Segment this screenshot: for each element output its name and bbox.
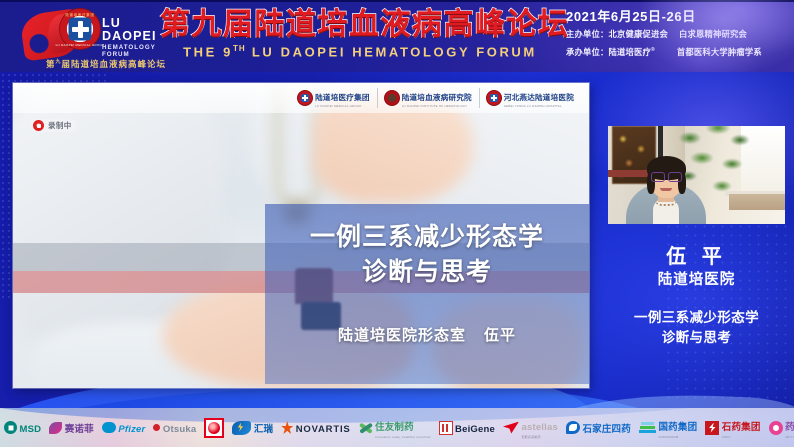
- broadcast-stage: 陆道培医疗集团 LU DAOPEI MEDICAL GROUP LU DAOPE…: [0, 0, 794, 447]
- logo-chinese-mark: 第九届陆道培血液病高峰论坛: [46, 58, 166, 70]
- sponsor-text: Pfizer: [118, 419, 145, 437]
- slide-logo-1-cn: 陆道培血液病研究院: [402, 93, 472, 102]
- beigene-icon: [439, 421, 453, 435]
- forum-logo: 陆道培医疗集团 LU DAOPEI MEDICAL GROUP LU DAOPE…: [22, 4, 150, 68]
- ldp-institute-portrait-icon: [385, 91, 399, 105]
- slide-logo-1-en: LU DAOPEI INSTITUTE OF HEMATOLOGY: [402, 105, 472, 108]
- sponsor-name: Otsuka: [163, 424, 196, 435]
- sponsor-bar: MSD赛诺菲PfizerOtsuka汇瑞NOVARTIS住友制药Innovati…: [0, 408, 794, 447]
- sponsor-logo: MSD: [0, 415, 45, 441]
- event-header-banner: 陆道培医疗集团 LU DAOPEI MEDICAL GROUP LU DAOPE…: [0, 0, 794, 72]
- slide-title-line-1: 一例三系减少形态学: [310, 220, 544, 255]
- sponsor-subtitle: 安斯泰来制药: [521, 435, 557, 439]
- sponsor-subtitle: SINOPHARM: [658, 435, 697, 439]
- co-organizer-2: 首都医科大学肿瘤学系: [677, 47, 762, 57]
- red-icon: [204, 418, 224, 438]
- presentation-slide[interactable]: 陆道培医疗集团 LU DAOPEI MEDICAL GROUP 陆道培血液病研究…: [13, 83, 589, 388]
- slide-logo-hospital: 河北燕达陆道培医院 HEBEI YANDA LU DAOPEI HOSPITAL: [479, 88, 581, 108]
- sponsor-subtitle: CSPC: [722, 435, 761, 439]
- jw-icon: [769, 421, 783, 435]
- sponsor-logo: BeiGene: [435, 415, 499, 441]
- event-title-chinese: 第九届陆道培血液病高峰论坛: [160, 8, 560, 42]
- event-info-block: 2021年6月25日-26日 主办单位：北京健康促进会白求恩精神研究会 承办单位…: [566, 9, 794, 59]
- event-organizers: 主办单位：北京健康促进会白求恩精神研究会: [566, 27, 794, 41]
- sponsor-logo: NOVARTIS: [277, 415, 354, 441]
- sponsor-text: astellas安斯泰来制药: [521, 417, 557, 439]
- sponsor-text: BeiGene: [455, 419, 495, 437]
- organizer-2: 白求恩精神研究会: [679, 29, 747, 39]
- sumitomo-icon: [359, 421, 373, 435]
- recording-label: 录制中: [48, 120, 72, 131]
- speaker-topic: 一例三系减少形态学 诊断与思考: [608, 308, 785, 348]
- event-title-english: THE 9TH LU DAOPEI HEMATOLOGY FORUM: [160, 44, 560, 59]
- slide-title: 一例三系减少形态学 诊断与思考: [310, 220, 544, 290]
- slide-title-line-2: 诊断与思考: [310, 255, 544, 290]
- cspc-icon: [705, 421, 719, 435]
- seal-bottom-text: LU DAOPEI MEDICAL GROUP: [56, 43, 105, 47]
- sponsor-name: 国药集团: [658, 422, 697, 433]
- slide-presenter-dept: 陆道培医院形态室: [338, 327, 466, 344]
- sinopharm-icon: [639, 421, 656, 435]
- slide-logo-0-en: LU DAOPEI MEDICAL GROUP: [315, 105, 370, 108]
- sanofi-icon: [49, 422, 62, 434]
- sponsor-logo: [200, 415, 228, 441]
- novartis-icon: [281, 421, 293, 434]
- slide-logo-2-en: HEBEI YANDA LU DAOPEI HOSPITAL: [504, 105, 574, 108]
- yanda-hospital-cross-icon: [487, 91, 501, 105]
- slide-presenter-line: 陆道培医院形态室伍平: [338, 324, 516, 345]
- sponsor-name: 住友制药: [375, 422, 414, 433]
- record-icon: [33, 120, 44, 131]
- speaker-figure: [626, 158, 706, 224]
- slide-logo-2-cn: 河北燕达陆道培医院: [504, 93, 574, 102]
- sponsor-logo: 石药集团CSPC: [701, 415, 764, 441]
- sponsor-logo: Otsuka: [149, 415, 200, 441]
- organizer-label: 主办单位：: [566, 29, 609, 39]
- sponsor-logo: 汇瑞: [228, 415, 277, 441]
- msd-icon: [4, 421, 17, 434]
- otsuka-icon: [153, 424, 160, 431]
- event-co-organizers: 承办单位：陆道培医疗®首都医科大学肿瘤学系: [566, 43, 794, 59]
- sponsor-logo: Pfizer: [98, 415, 150, 441]
- sponsor-logo: 国药集团SINOPHARM: [635, 415, 701, 441]
- seal-cross-horizontal: [72, 27, 89, 32]
- slide-logo-group: 陆道培医疗集团 LU DAOPEI MEDICAL GROUP: [291, 88, 377, 108]
- sponsor-text: 药明巨诺JW Therapeutics: [785, 417, 794, 439]
- event-title-en-ordinal: TH: [233, 44, 246, 53]
- event-title-en-rest: LU DAOPEI HEMATOLOGY FORUM: [246, 44, 537, 59]
- speaker-video-feed[interactable]: [608, 126, 785, 224]
- organizer-1: 北京健康促进会: [609, 29, 668, 39]
- sponsor-name: Pfizer: [118, 424, 145, 435]
- logo-english-name: LU DAOPEI: [102, 17, 157, 43]
- sjz-icon: [566, 421, 580, 434]
- recording-indicator: 录制中: [31, 119, 77, 132]
- sponsor-text: 住友制药Innovation today, healthier tomorrow: [375, 417, 431, 439]
- sponsor-logo-list: MSD赛诺菲PfizerOtsuka汇瑞NOVARTIS住友制药Innovati…: [0, 415, 794, 441]
- sponsor-text: MSD: [20, 419, 42, 437]
- logo-chinese-prefix: 第: [46, 59, 56, 69]
- header-top-rule: [0, 0, 794, 2]
- sponsor-logo: 石家庄四药: [562, 415, 635, 441]
- speaker-name: 伍 平: [608, 240, 785, 269]
- seal-cross-icon: [69, 18, 92, 41]
- co-organizer-label: 承办单位：: [566, 47, 609, 57]
- seal-top-text: 陆道培医疗集团: [65, 12, 94, 17]
- sponsor-subtitle: JW Therapeutics: [785, 435, 794, 439]
- event-date: 2021年6月25日-26日: [566, 9, 794, 25]
- sponsor-name: 石家庄四药: [582, 424, 631, 435]
- sponsor-name: 药明巨诺: [785, 422, 794, 433]
- sponsor-name: astellas: [521, 422, 557, 433]
- event-title-en-prefix: THE 9: [183, 44, 233, 59]
- sponsor-subtitle: Innovation today, healthier tomorrow: [375, 435, 431, 439]
- sponsor-text: 石药集团CSPC: [722, 417, 761, 439]
- sponsor-logo: 住友制药Innovation today, healthier tomorrow: [355, 415, 435, 441]
- speaker-topic-line-2: 诊断与思考: [608, 328, 785, 348]
- astellas-icon: [503, 422, 519, 434]
- co-organizer-1-trademark: ®: [651, 47, 655, 53]
- speaker-organization: 陆道培医院: [608, 268, 785, 289]
- sponsor-name: MSD: [20, 424, 42, 435]
- sponsor-logo: 药明巨诺JW Therapeutics: [765, 415, 794, 441]
- sponsor-logo: astellas安斯泰来制药: [499, 415, 562, 441]
- sponsor-name: 汇瑞: [254, 424, 273, 435]
- logo-chinese-rest: 届陆道培血液病高峰论坛: [62, 59, 167, 69]
- speaker-topic-line-1: 一例三系减少形态学: [608, 308, 785, 328]
- logo-english-tagline: HEMATOLOGY FORUM: [102, 44, 157, 58]
- logo-english-block: LU DAOPEI HEMATOLOGY FORUM: [102, 17, 157, 58]
- hl-icon: [232, 421, 251, 435]
- sponsor-text: 石家庄四药: [582, 419, 631, 437]
- co-organizer-1: 陆道培医疗: [609, 47, 652, 57]
- sponsor-text: 汇瑞: [254, 419, 273, 437]
- slide-logo-0-cn: 陆道培医疗集团: [315, 93, 370, 102]
- sponsor-text: NOVARTIS: [296, 419, 351, 437]
- sponsor-logo: 赛诺菲: [45, 415, 98, 441]
- sponsor-text: Otsuka: [163, 419, 196, 437]
- sponsor-text: 国药集团SINOPHARM: [658, 417, 697, 439]
- slide-logo-institute: 陆道培血液病研究院 LU DAOPEI INSTITUTE OF HEMATOL…: [377, 88, 479, 108]
- logo-seal-icon: 陆道培医疗集团 LU DAOPEI MEDICAL GROUP: [60, 9, 100, 49]
- speaker-mouth: [660, 188, 672, 191]
- sponsor-name: 赛诺菲: [65, 424, 94, 435]
- pfizer-icon: [102, 422, 116, 433]
- sponsor-name: NOVARTIS: [296, 424, 351, 435]
- slide-presenter-name: 伍平: [484, 324, 516, 345]
- slide-title-overlay: 一例三系减少形态学 诊断与思考 陆道培医院形态室伍平: [265, 204, 589, 384]
- speaker-glasses-icon: [650, 172, 683, 180]
- slide-logo-bar: 陆道培医疗集团 LU DAOPEI MEDICAL GROUP 陆道培血液病研究…: [13, 83, 589, 113]
- ldp-group-cross-icon: [298, 91, 312, 105]
- sponsor-text: 赛诺菲: [65, 419, 94, 437]
- sponsor-name: 石药集团: [722, 422, 761, 433]
- sponsor-name: BeiGene: [455, 424, 495, 435]
